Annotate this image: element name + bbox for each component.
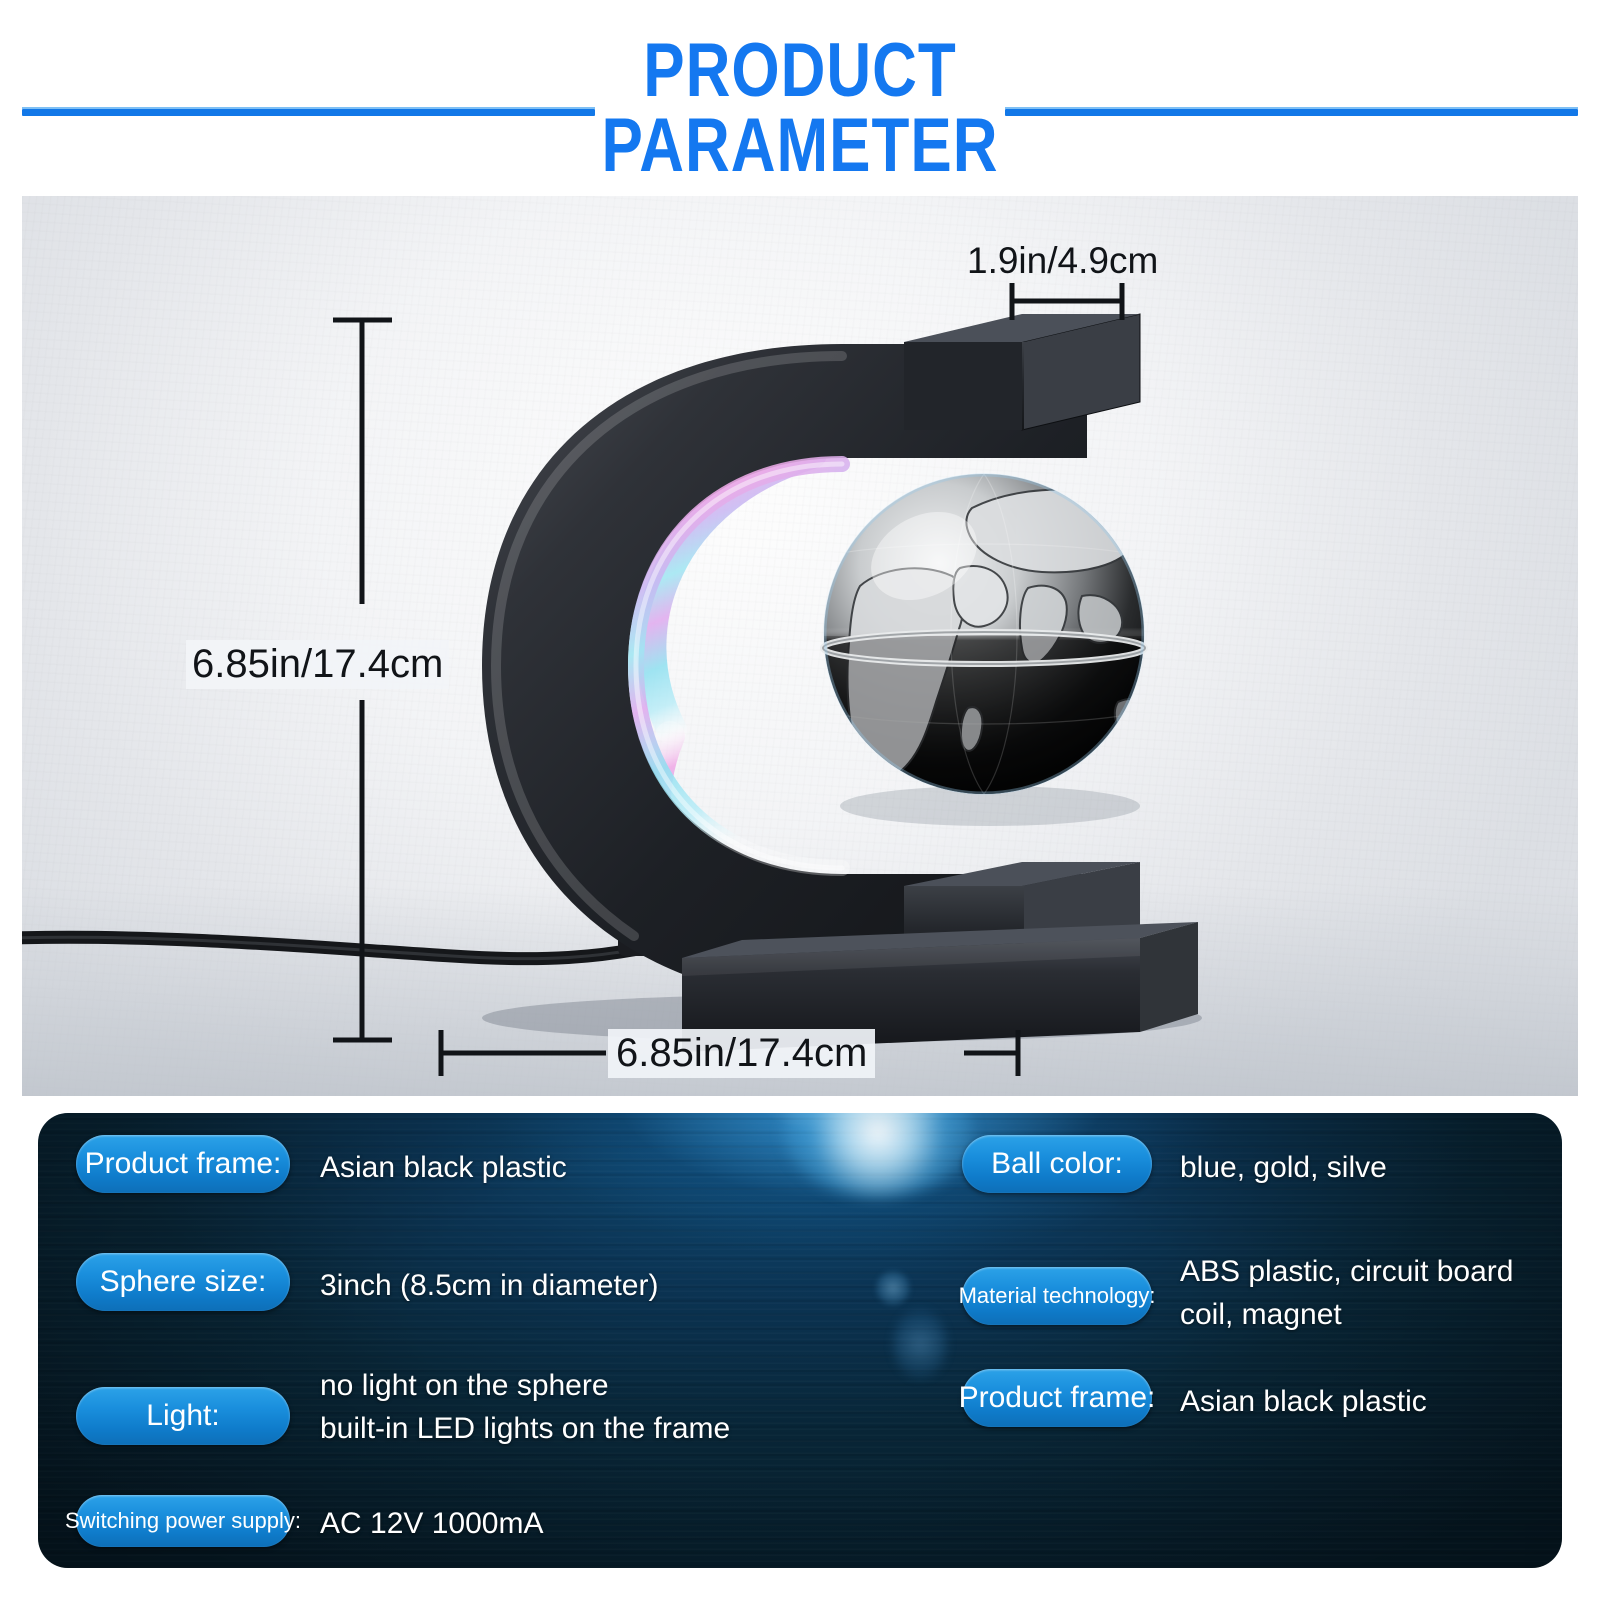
- spec-value-product-frame-2: Asian black plastic: [1180, 1381, 1427, 1424]
- spec-row-material-technology: Material technology: ABS plastic, circui…: [962, 1251, 1513, 1336]
- spec-label-sphere-size: Sphere size:: [76, 1253, 290, 1311]
- spec-value-light: no light on the sphere built-in LED ligh…: [320, 1365, 730, 1450]
- spec-value-sphere-size: 3inch (8.5cm in diameter): [320, 1265, 658, 1308]
- spec-row-product-frame-2: Product frame: Asian black plastic: [962, 1369, 1427, 1427]
- product-photo: [22, 196, 1578, 1096]
- spec-value-product-frame: Asian black plastic: [320, 1147, 567, 1190]
- base-block: [682, 922, 1198, 1052]
- top-arm-block: [904, 314, 1140, 430]
- page-title-line-2: PARAMETER: [0, 111, 1600, 181]
- globe: [823, 474, 1157, 826]
- levitating-globe-illustration: [22, 196, 1578, 1096]
- spec-label-product-frame-2: Product frame:: [962, 1369, 1152, 1427]
- spec-row-ball-color: Ball color: blue, gold, silve: [962, 1135, 1387, 1193]
- spec-row-power-supply: Switching power supply: AC 12V 1000mA: [76, 1495, 543, 1547]
- spec-label-light: Light:: [76, 1387, 290, 1445]
- spec-value-material-technology: ABS plastic, circuit board coil, magnet: [1180, 1251, 1513, 1336]
- spec-label-material-technology: Material technology:: [962, 1267, 1152, 1325]
- lens-flare-glow: [783, 1113, 973, 1197]
- lens-flare-dot-small: [876, 1271, 910, 1305]
- page-header: PRODUCT PARAMETER: [0, 0, 1600, 196]
- spec-label-power-supply: Switching power supply:: [76, 1495, 290, 1547]
- spec-row-product-frame: Product frame: Asian black plastic: [76, 1135, 567, 1193]
- spec-label-product-frame: Product frame:: [76, 1135, 290, 1193]
- page-title: PRODUCT PARAMETER: [0, 36, 1600, 168]
- lens-flare-dot-large: [893, 1309, 947, 1379]
- page-title-line-1: PRODUCT: [0, 36, 1600, 106]
- spec-value-power-supply: AC 12V 1000mA: [320, 1503, 543, 1546]
- product-spec-panel: Product frame: Asian black plastic Spher…: [38, 1113, 1562, 1568]
- spec-label-ball-color: Ball color:: [962, 1135, 1152, 1193]
- spec-row-light: Light: no light on the sphere built-in L…: [76, 1365, 730, 1450]
- spec-value-ball-color: blue, gold, silve: [1180, 1147, 1387, 1190]
- spec-row-sphere-size: Sphere size: 3inch (8.5cm in diameter): [76, 1253, 658, 1311]
